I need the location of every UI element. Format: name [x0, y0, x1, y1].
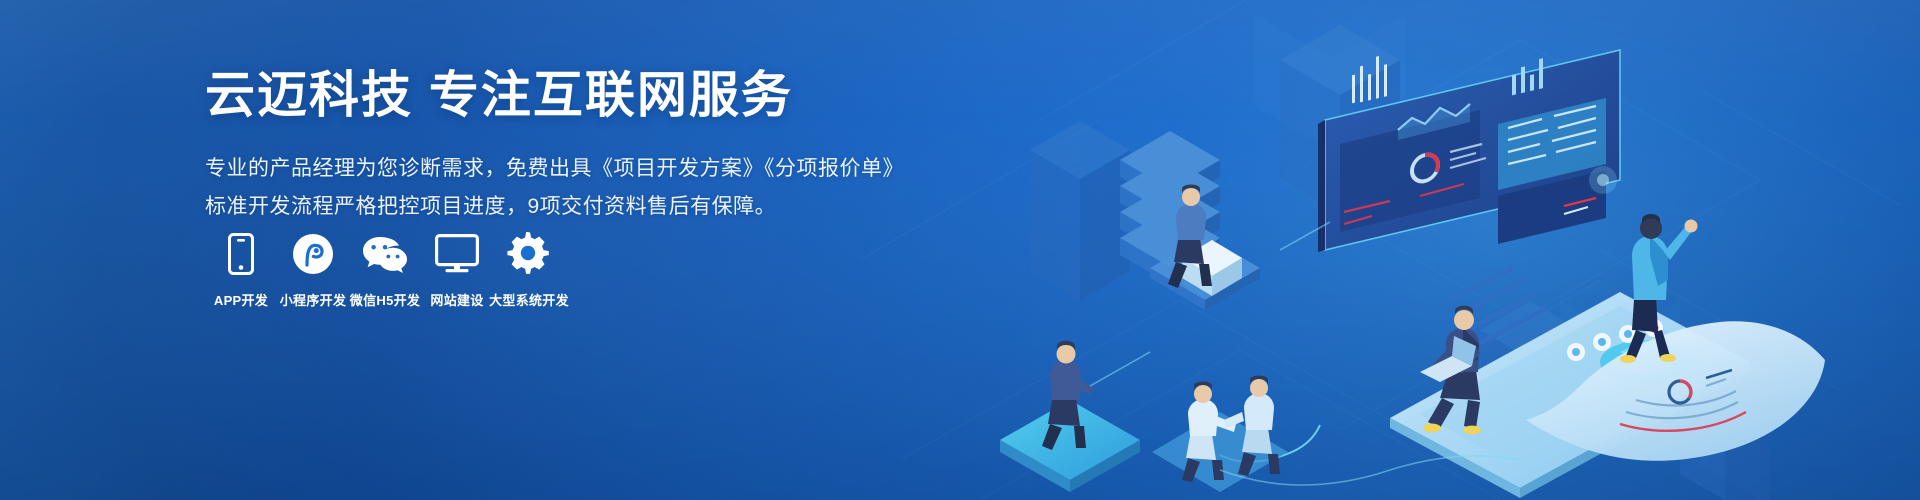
monitor-icon [435, 232, 479, 276]
service-label: 网站建设 [430, 290, 483, 309]
mini-program-icon [292, 232, 334, 276]
service-label: APP开发 [214, 290, 268, 309]
hero-illustration [920, 0, 1920, 500]
service-item-wechat-h5[interactable]: 微信H5开发 [349, 232, 421, 309]
wechat-icon [362, 232, 408, 276]
service-label: 微信H5开发 [350, 290, 420, 309]
service-item-mini-program[interactable]: 小程序开发 [277, 232, 349, 309]
subtitle-line-1: 专业的产品经理为您诊断需求，免费出具《项目开发方案》《分项报价单》 [205, 150, 905, 188]
hero-banner: 云迈科技 专注互联网服务 专业的产品经理为您诊断需求，免费出具《项目开发方案》《… [0, 0, 1920, 500]
service-label: 大型系统开发 [489, 290, 569, 309]
page-title: 云迈科技 专注互联网服务 [205, 66, 905, 124]
service-item-app[interactable]: APP开发 [205, 232, 277, 309]
copy-block: 云迈科技 专注互联网服务 专业的产品经理为您诊断需求，免费出具《项目开发方案》《… [205, 66, 905, 226]
service-item-large-system[interactable]: 大型系统开发 [493, 232, 565, 309]
service-label: 小程序开发 [280, 290, 347, 309]
service-list: APP开发 小程序开发 [205, 232, 565, 309]
subtitle-line-2: 标准开发流程严格把控项目进度，9项交付资料售后有保障。 [205, 188, 905, 226]
service-item-website[interactable]: 网站建设 [421, 232, 493, 309]
mobile-phone-icon [228, 232, 254, 276]
gear-icon [507, 232, 551, 276]
